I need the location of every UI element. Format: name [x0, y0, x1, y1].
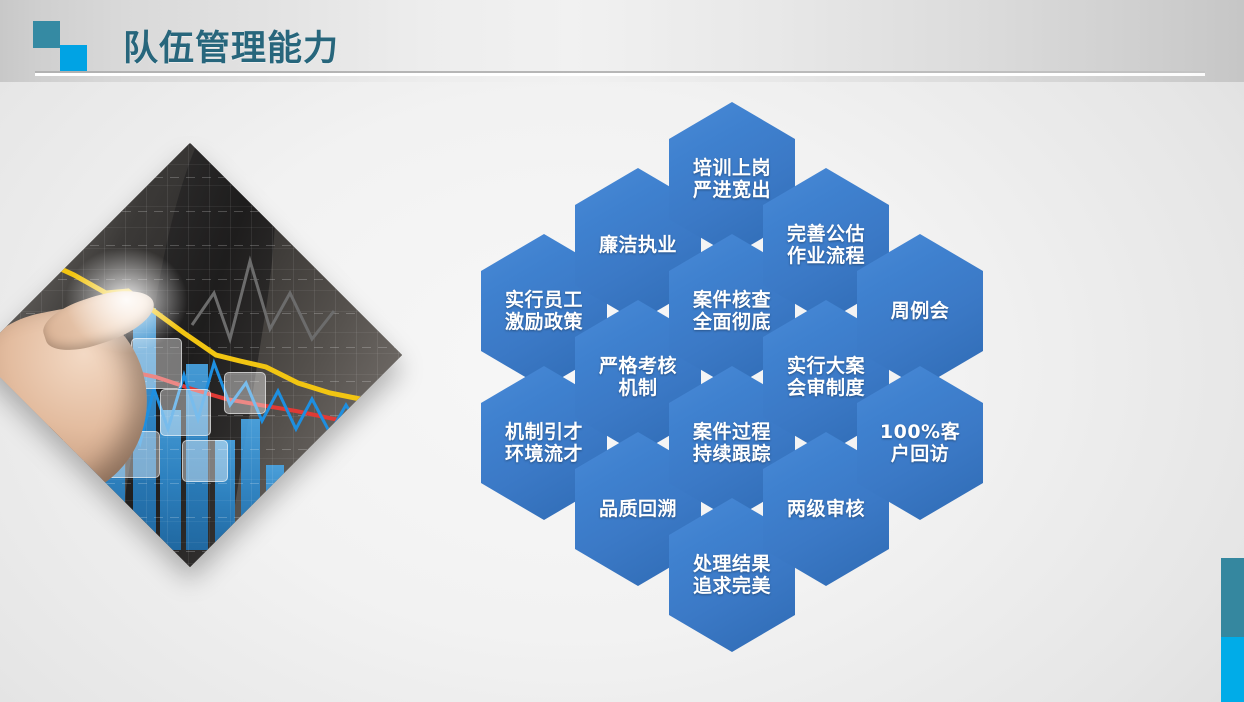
hex-label: 处理结果 追求完美 — [687, 553, 777, 598]
hex-label: 完善公估 作业流程 — [781, 223, 871, 268]
hex-label: 培训上岗 严进宽出 — [687, 157, 777, 202]
corner-block-cyan — [1221, 637, 1244, 702]
corner-block-teal — [1221, 558, 1244, 637]
hex-label: 机制引才 环境流才 — [499, 421, 589, 466]
slide-canvas: 队伍管理能力 — [0, 0, 1244, 702]
hex-label: 周例会 — [885, 300, 956, 322]
hex-label: 案件核查 全面彻底 — [687, 289, 777, 334]
hex-label: 严格考核 机制 — [593, 355, 683, 400]
hex-label: 品质回溯 — [593, 498, 683, 520]
hex-label: 两级审核 — [781, 498, 871, 520]
hex-label: 实行大案 会审制度 — [781, 355, 871, 400]
hex-label: 案件过程 持续跟踪 — [687, 421, 777, 466]
hex-label: 廉洁执业 — [593, 234, 683, 256]
honeycomb-diagram: 实行员工 激励政策 机制引才 环境流才 廉洁执业 严格考核 机制 品质回溯 培训… — [0, 0, 1244, 702]
hex-label: 实行员工 激励政策 — [499, 289, 589, 334]
hex-label: 100%客 户回访 — [874, 421, 966, 466]
